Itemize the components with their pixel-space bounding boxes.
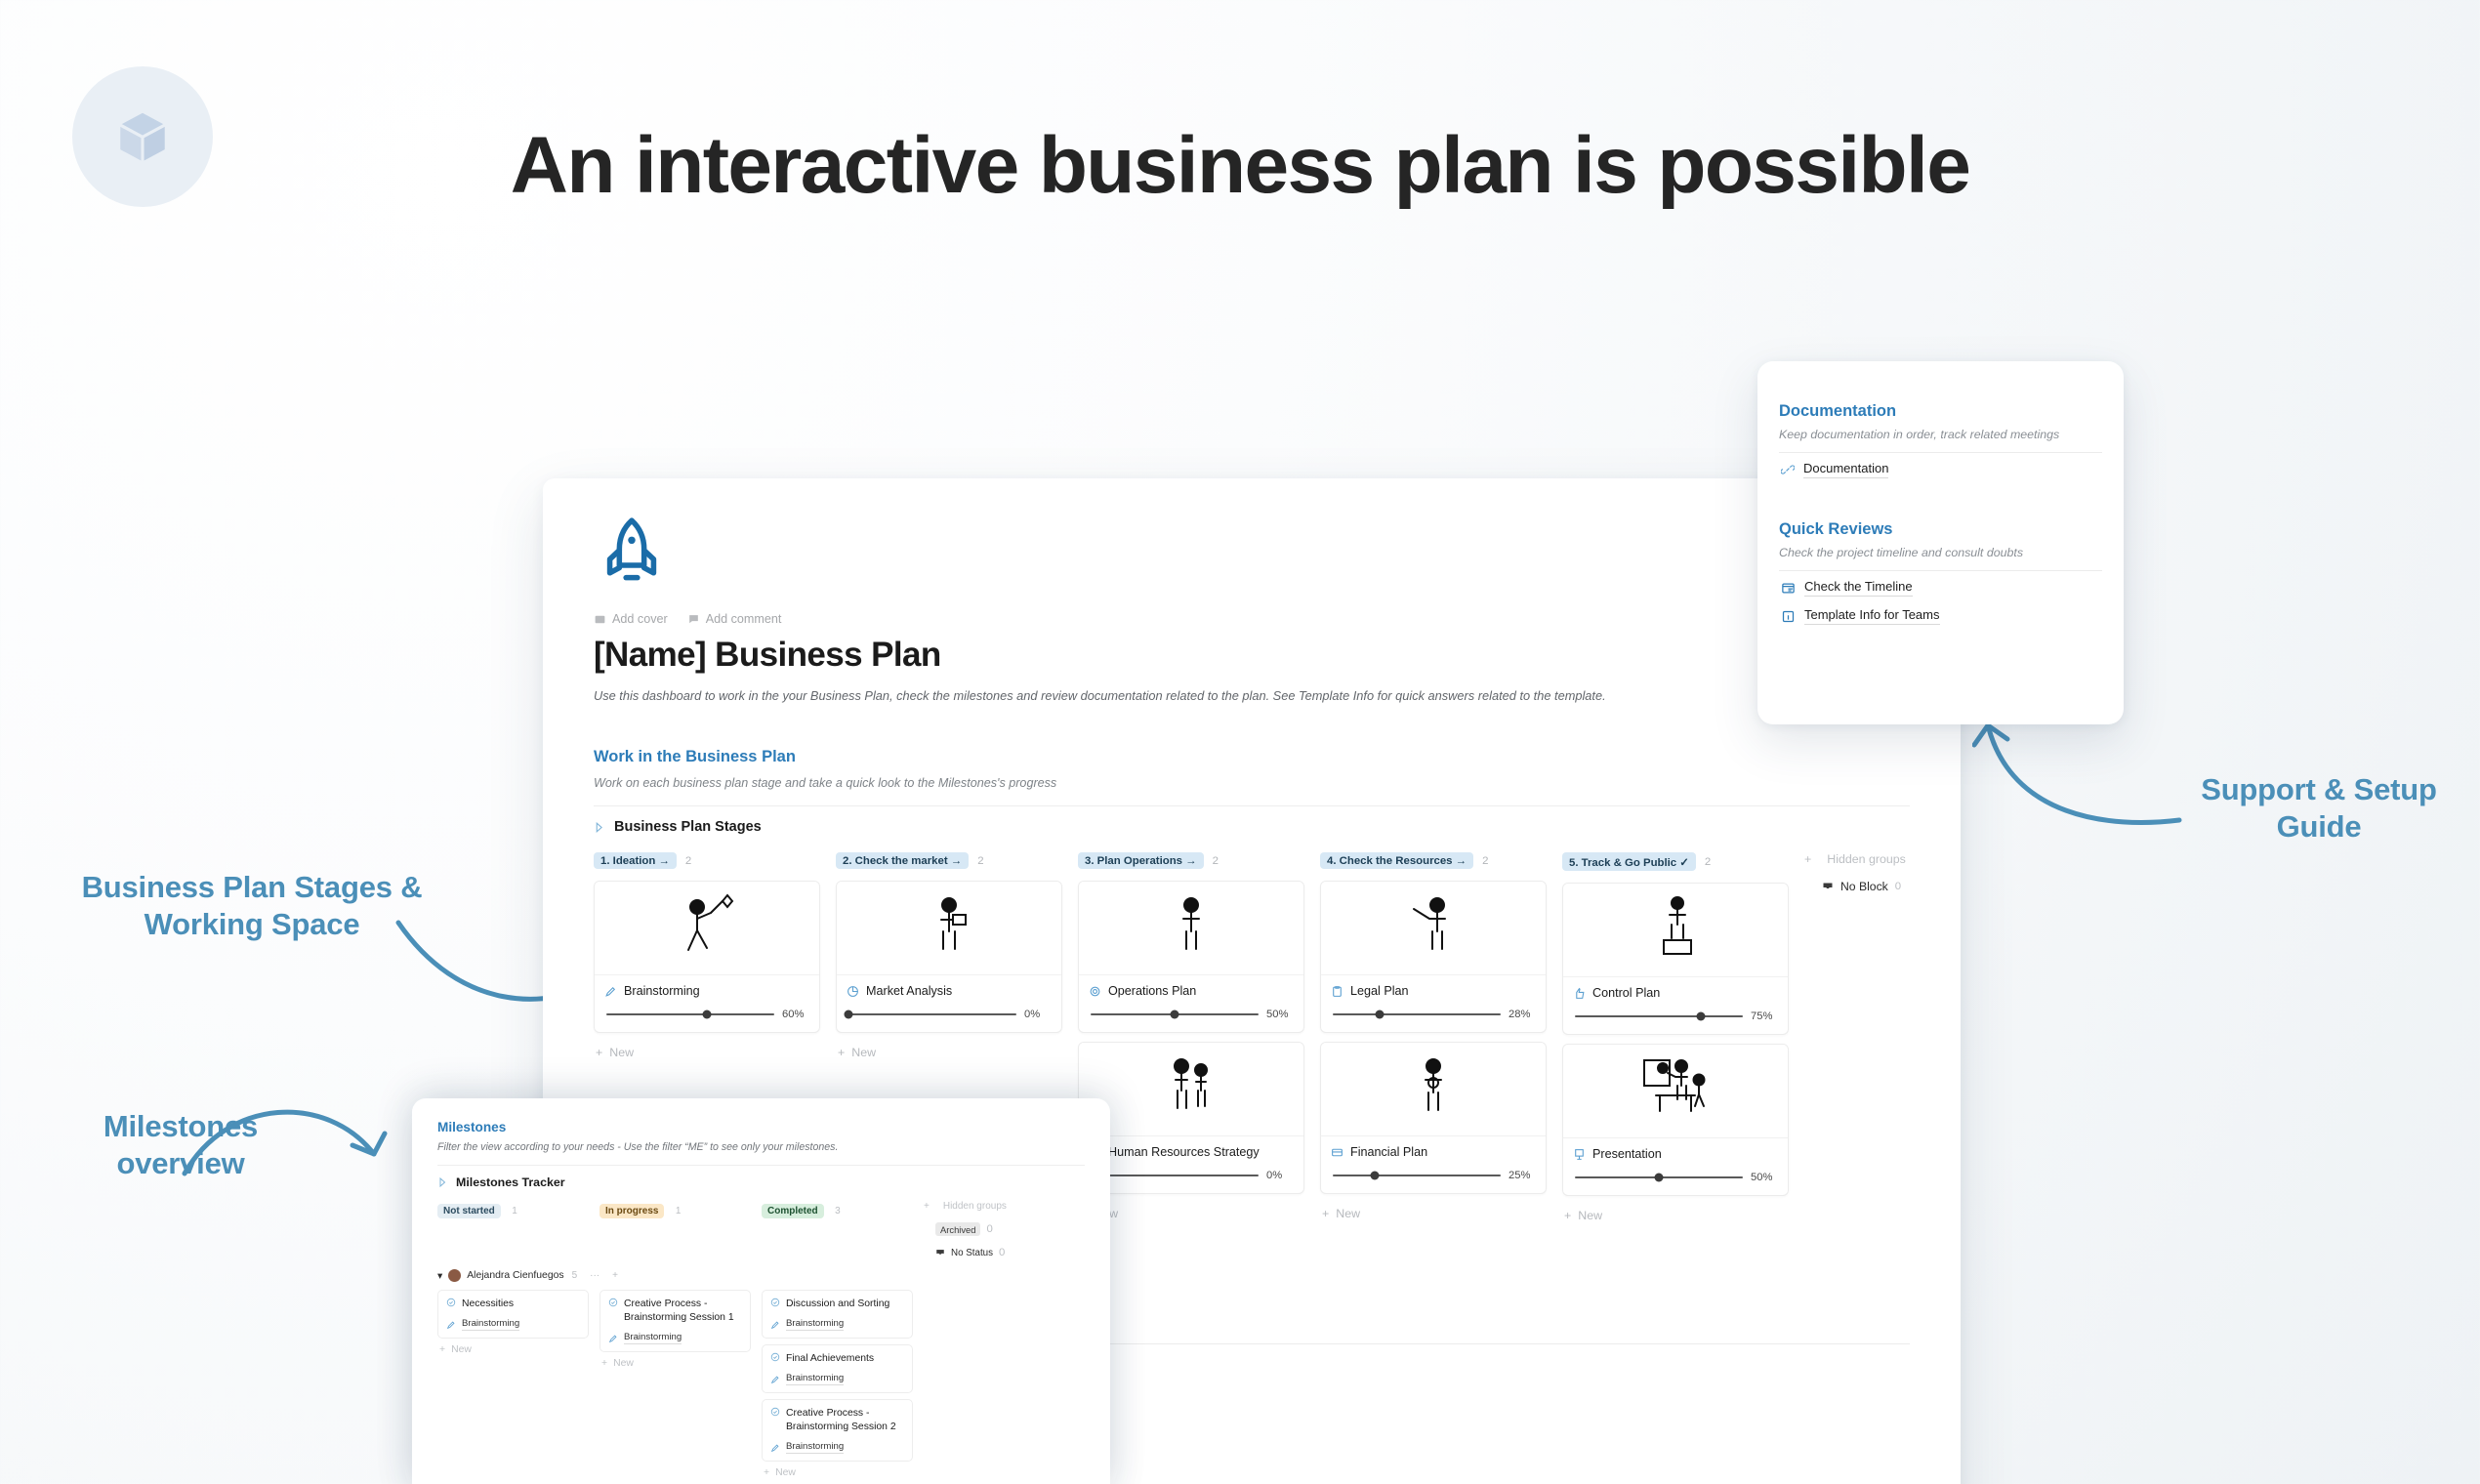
add-new-card-button[interactable]: + New — [1320, 1203, 1547, 1220]
hidden-group-count: 0 — [999, 1247, 1005, 1258]
check-circle-icon — [770, 1407, 780, 1417]
milestone-title: Discussion and Sorting — [786, 1298, 889, 1311]
new-label: New — [451, 1344, 472, 1355]
card-illustration — [1321, 1043, 1546, 1136]
card-title: Operations Plan — [1108, 984, 1196, 998]
card-illustration — [1321, 882, 1546, 975]
page-title: An interactive business plan is possible — [508, 119, 1972, 214]
hidden-groups-label: Hidden groups — [943, 1201, 1007, 1212]
kanban-column-check-market: 2. Check the market → 2 — [836, 848, 1062, 1059]
document-description: Use this dashboard to work in the your B… — [594, 688, 1910, 703]
popover-quick-reviews-title: Quick Reviews — [1779, 520, 2102, 539]
add-group-button[interactable]: + — [1804, 852, 1811, 866]
progress-value: 60% — [782, 1009, 809, 1020]
image-icon — [594, 613, 606, 626]
expand-icon — [437, 1176, 449, 1188]
progress-slider[interactable]: 50% — [1573, 1172, 1778, 1183]
milestone-title: Creative Process - Brainstorming Session… — [786, 1407, 904, 1434]
milestones-column-not-started[interactable]: Not started 1 — [437, 1201, 589, 1218]
progress-slider[interactable]: 0% — [847, 1009, 1052, 1020]
new-label: New — [1336, 1207, 1360, 1220]
add-new-card-button[interactable]: + New — [1562, 1205, 1789, 1222]
pie-chart-icon — [847, 985, 859, 998]
hidden-group-label: Archived — [935, 1222, 980, 1236]
group-name: Alejandra Cienfuegos — [467, 1270, 563, 1281]
column-count: 1 — [512, 1206, 517, 1216]
card-title: Control Plan — [1592, 986, 1660, 1000]
progress-slider[interactable]: 0% — [1089, 1170, 1294, 1181]
database-name: Business Plan Stages — [614, 819, 762, 835]
plus-icon: + — [596, 1046, 602, 1059]
progress-slider[interactable]: 50% — [1089, 1009, 1294, 1020]
milestones-column-headers: Not started 1 In progress 1 Completed 3 … — [437, 1201, 1085, 1258]
add-new-card-button[interactable]: + New — [594, 1042, 820, 1059]
link-icon — [1781, 463, 1795, 476]
add-comment-label: Add comment — [706, 612, 782, 626]
avatar — [448, 1269, 461, 1282]
milestone-title: Creative Process - Brainstorming Session… — [624, 1298, 742, 1325]
kanban-card[interactable]: Legal Plan 28% — [1320, 881, 1547, 1033]
progress-slider[interactable]: 25% — [1331, 1170, 1536, 1181]
inbox-icon — [1822, 881, 1834, 892]
column-count: 1 — [676, 1206, 682, 1216]
link-label: Template Info for Teams — [1804, 607, 1940, 625]
more-options-icon[interactable]: ··· — [590, 1270, 599, 1281]
card-title: Legal Plan — [1350, 984, 1409, 998]
popover-documentation-subtitle: Keep documentation in order, track relat… — [1779, 428, 2102, 441]
card-illustration — [1079, 882, 1303, 975]
kanban-column-track-go-public: 5. Track & Go Public ✓ 2 — [1562, 848, 1789, 1222]
inbox-icon — [935, 1248, 945, 1257]
milestones-panel: Milestones Filter the view according to … — [412, 1098, 1110, 1484]
add-new-milestone-button[interactable]: + New — [437, 1344, 589, 1355]
progress-value: 28% — [1509, 1009, 1536, 1020]
check-circle-icon — [770, 1352, 780, 1362]
add-new-card-button[interactable]: + New — [836, 1042, 1062, 1059]
progress-value: 0% — [1266, 1170, 1294, 1181]
milestones-column-in-progress[interactable]: In progress 1 — [599, 1201, 751, 1218]
milestone-title: Final Achievements — [786, 1352, 874, 1366]
card-illustration — [1079, 1043, 1303, 1136]
column-label: 1. Ideation → — [594, 852, 677, 869]
milestones-tracker-db-header[interactable]: Milestones Tracker — [437, 1165, 1085, 1189]
milestone-card[interactable]: Necessities Brainstorming — [437, 1290, 589, 1339]
milestones-hidden-groups: + Hidden groups Archived 0 No Status 0 — [924, 1201, 1031, 1258]
expand-icon — [594, 821, 606, 834]
kanban-card[interactable]: Operations Plan 50% — [1078, 881, 1304, 1033]
column-count: 3 — [835, 1206, 841, 1216]
card-title: Brainstorming — [624, 984, 700, 998]
column-label: 2. Check the market → — [836, 852, 969, 869]
column-label: Completed — [762, 1204, 824, 1218]
hidden-group-no-block[interactable]: No Block 0 — [1822, 880, 1951, 893]
card-title: Market Analysis — [866, 984, 952, 998]
milestone-tag: Brainstorming — [462, 1318, 519, 1331]
add-comment-button[interactable]: Add comment — [687, 612, 782, 626]
brush-icon — [446, 1320, 456, 1330]
document-meta-row: Add cover Add comment — [594, 612, 1910, 626]
milestone-tag: Brainstorming — [786, 1318, 844, 1331]
add-new-milestone-button[interactable]: + New — [762, 1467, 913, 1478]
annotation-support: Support & Setup Guide — [2177, 771, 2460, 846]
kanban-column-check-resources: 4. Check the Resources → 2 — [1320, 848, 1547, 1220]
annotation-stages: Business Plan Stages & Working Space — [57, 869, 447, 944]
thumb-icon — [1573, 987, 1586, 1000]
column-count: 2 — [1482, 855, 1488, 867]
document-title: [Name] Business Plan — [594, 636, 1910, 675]
kanban-card[interactable]: Financial Plan 25% — [1320, 1042, 1547, 1194]
milestone-card[interactable]: Creative Process - Brainstorming Session… — [599, 1290, 751, 1352]
hidden-group-count: 0 — [986, 1223, 992, 1235]
kanban-column-header[interactable]: 1. Ideation → 2 — [594, 848, 820, 881]
progress-value: 50% — [1266, 1009, 1294, 1020]
column-label: 5. Track & Go Public ✓ — [1562, 852, 1696, 871]
kanban-column-plan-operations: 3. Plan Operations → 2 — [1078, 848, 1304, 1220]
add-group-button[interactable]: + — [924, 1201, 930, 1212]
new-label: New — [613, 1358, 634, 1369]
milestones-subtitle: Filter the view according to your needs … — [437, 1141, 1085, 1153]
plus-icon: + — [764, 1467, 769, 1478]
kanban-card[interactable]: Control Plan 75% — [1562, 883, 1789, 1035]
cube-icon — [112, 106, 173, 167]
add-new-card-button[interactable]: + New — [1078, 1203, 1304, 1220]
page-root: An interactive business plan is possible… — [0, 0, 2480, 1484]
card-illustration — [837, 882, 1061, 975]
work-section-title: Work in the Business Plan — [594, 748, 1910, 766]
new-label: New — [775, 1467, 796, 1478]
column-count: 2 — [685, 855, 691, 867]
add-new-milestone-button[interactable]: + New — [599, 1358, 751, 1369]
column-label: 3. Plan Operations → — [1078, 852, 1204, 869]
hidden-groups-label: Hidden groups — [1827, 852, 1906, 866]
kanban-hidden-groups: + Hidden groups No Block 0 — [1804, 848, 1951, 893]
new-label: New — [609, 1046, 634, 1059]
brand-logo — [72, 66, 213, 207]
column-label: Not started — [437, 1204, 501, 1218]
milestone-tag: Brainstorming — [786, 1373, 844, 1385]
kanban-column-header[interactable]: 3. Plan Operations → 2 — [1078, 848, 1304, 881]
brush-icon — [604, 985, 617, 998]
hidden-group-archived[interactable]: Archived 0 — [935, 1222, 1031, 1236]
brush-icon — [770, 1443, 780, 1453]
card-icon — [1331, 1146, 1343, 1159]
clipboard-icon — [1331, 985, 1343, 998]
card-illustration — [1563, 1045, 1788, 1138]
kanban-column-ideation: 1. Ideation → 2 — [594, 848, 820, 1059]
milestone-tag: Brainstorming — [624, 1332, 682, 1344]
add-cover-button[interactable]: Add cover — [594, 612, 668, 626]
progress-value: 0% — [1024, 1009, 1052, 1020]
brush-icon — [770, 1375, 780, 1384]
easel-icon — [1573, 1148, 1586, 1161]
kanban-card[interactable]: Human Resources Strategy 0% — [1078, 1042, 1304, 1194]
milestones-title: Milestones — [437, 1120, 1085, 1134]
column-label: 4. Check the Resources → — [1320, 852, 1473, 869]
card-title: Human Resources Strategy — [1108, 1145, 1260, 1159]
comment-icon — [687, 613, 700, 626]
new-label: New — [1578, 1209, 1602, 1222]
work-section-subtitle: Work on each business plan stage and tak… — [594, 776, 1910, 790]
kanban-column-header[interactable]: 4. Check the Resources → 2 — [1320, 848, 1547, 881]
kanban-card[interactable]: Market Analysis 0% — [836, 881, 1062, 1033]
progress-value: 25% — [1509, 1170, 1536, 1181]
plus-icon: + — [838, 1046, 845, 1059]
hidden-group-no-status[interactable]: No Status 0 — [935, 1247, 1031, 1258]
link-label: Check the Timeline — [1804, 579, 1913, 597]
lane-in-progress: Creative Process - Brainstorming Session… — [599, 1290, 751, 1369]
annotation-milestones: Milestones overview — [68, 1108, 293, 1183]
info-icon — [1781, 609, 1796, 624]
new-label: New — [851, 1046, 876, 1059]
card-title: Financial Plan — [1350, 1145, 1427, 1159]
column-count: 2 — [1213, 855, 1219, 867]
popover-quick-reviews-subtitle: Check the project timeline and consult d… — [1779, 546, 2102, 559]
template-info-link[interactable]: Template Info for Teams — [1779, 599, 2102, 628]
hidden-group-count: 0 — [1895, 881, 1901, 892]
milestones-group-lanes: Necessities Brainstorming + New — [437, 1290, 1085, 1478]
plus-icon: + — [601, 1358, 607, 1369]
column-label: In progress — [599, 1204, 664, 1218]
arrow-to-support — [1972, 708, 2202, 840]
brush-icon — [608, 1334, 618, 1343]
card-illustration — [1563, 884, 1788, 977]
column-count: 2 — [977, 855, 983, 867]
group-count: 5 — [572, 1270, 578, 1281]
plus-icon[interactable]: + — [612, 1270, 618, 1281]
hidden-group-label: No Block — [1840, 880, 1888, 893]
support-setup-popover: Documentation Keep documentation in orde… — [1757, 361, 2124, 724]
check-circle-icon — [770, 1298, 780, 1307]
milestones-group-header[interactable]: ▾ Alejandra Cienfuegos 5 ··· + — [437, 1269, 1085, 1282]
check-circle-icon — [608, 1298, 618, 1307]
plus-icon: + — [439, 1344, 445, 1355]
column-count: 2 — [1705, 856, 1711, 868]
rocket-icon — [594, 514, 670, 590]
card-illustration — [595, 882, 819, 975]
milestones-column-completed[interactable]: Completed 3 — [762, 1201, 913, 1218]
chevron-down-icon: ▾ — [437, 1270, 442, 1282]
milestone-title: Necessities — [462, 1298, 514, 1311]
add-cover-label: Add cover — [612, 612, 668, 626]
plus-icon: + — [1322, 1207, 1329, 1220]
popover-documentation-title: Documentation — [1779, 402, 2102, 421]
popover-documentation-link[interactable]: Documentation — [1779, 453, 2102, 481]
hidden-group-label: No Status — [951, 1248, 993, 1258]
brush-icon — [770, 1320, 780, 1330]
kanban-column-header[interactable]: 5. Track & Go Public ✓ 2 — [1562, 848, 1789, 883]
timeline-icon — [1781, 581, 1796, 596]
card-title: Presentation — [1592, 1147, 1662, 1161]
progress-slider[interactable]: 75% — [1573, 1010, 1778, 1022]
check-timeline-link[interactable]: Check the Timeline — [1779, 571, 2102, 599]
progress-slider[interactable]: 60% — [604, 1009, 809, 1020]
progress-slider[interactable]: 28% — [1331, 1009, 1536, 1020]
business-plan-stages-db-header[interactable]: Business Plan Stages — [594, 805, 1910, 835]
progress-value: 75% — [1751, 1010, 1778, 1022]
progress-value: 50% — [1751, 1172, 1778, 1183]
link-label: Documentation — [1803, 461, 1888, 478]
gear-icon — [1089, 985, 1101, 998]
check-circle-icon — [446, 1298, 456, 1307]
milestone-tag: Brainstorming — [786, 1441, 844, 1454]
lane-completed: Discussion and Sorting Brainstorming — [762, 1290, 913, 1478]
plus-icon: + — [1564, 1209, 1571, 1222]
lane-not-started: Necessities Brainstorming + New — [437, 1290, 589, 1355]
card-title-row: Brainstorming — [604, 984, 809, 998]
database-name: Milestones Tracker — [456, 1175, 565, 1189]
milestone-card[interactable]: Final Achievements Brainstorming — [762, 1344, 913, 1393]
kanban-card[interactable]: Brainstorming 60% — [594, 881, 820, 1033]
kanban-card[interactable]: Presentation 50% — [1562, 1044, 1789, 1196]
kanban-column-header[interactable]: 2. Check the market → 2 — [836, 848, 1062, 881]
milestone-card[interactable]: Discussion and Sorting Brainstorming — [762, 1290, 913, 1339]
milestone-card[interactable]: Creative Process - Brainstorming Session… — [762, 1399, 913, 1462]
